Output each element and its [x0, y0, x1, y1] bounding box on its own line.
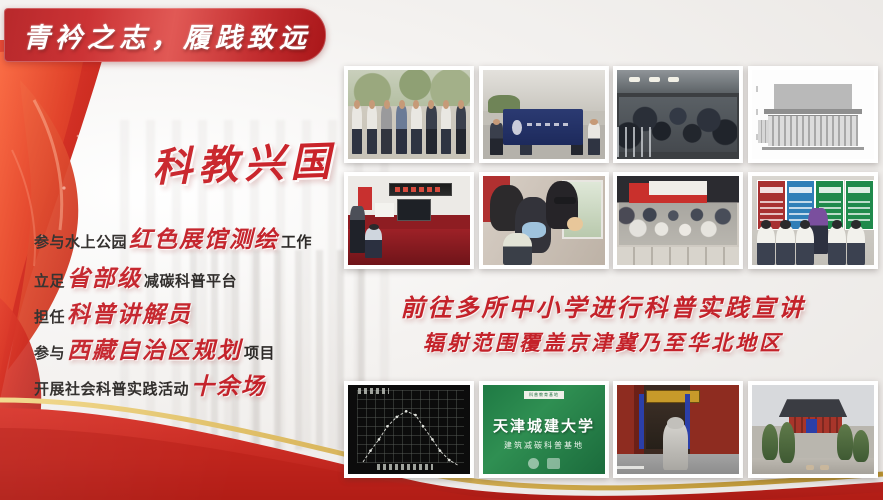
achievement-bullet-list: 参与水上公园红色展馆测绘工作 立足省部级减碳科普平台 担任科普讲解员 参与西藏自… [34, 228, 344, 411]
photo-auditorium-group [613, 172, 743, 269]
bullet-item-3: 担任科普讲解员 [34, 303, 344, 326]
bullet-item-1: 参与水上公园红色展馆测绘工作 [34, 228, 344, 251]
sign-logo-row [528, 458, 560, 469]
bullet-3-highlight: 科普讲解员 [67, 302, 192, 327]
center-caption-line-1: 前往多所中小学进行科普实践宣讲 [368, 288, 838, 323]
title-banner: 青衿之志，履践致远 [4, 8, 326, 62]
sign-wordmark-icon [547, 458, 560, 469]
people-row [352, 102, 467, 154]
bullet-1-post: 工作 [281, 235, 312, 251]
bullet-4-post: 项目 [244, 346, 275, 362]
cad-section-curve [348, 385, 470, 474]
photo-cad-drawing [344, 381, 474, 478]
sign-subtitle: 建筑减碳科普基地 [504, 440, 584, 451]
slide-root: 青衿之志，履践致远 科教兴国 参与水上公园红色展馆测绘工作 立足省部级减碳科普平… [0, 0, 883, 500]
bullet-item-4: 参与西藏自治区规划项目 [34, 339, 344, 362]
bullet-5-pre: 开展社会科普实践活动 [34, 382, 189, 398]
photo-green-sign: 科普教育基地 天津城建大学 建筑减碳科普基地 [479, 381, 609, 478]
bullet-item-2: 立足省部级减碳科普平台 [34, 267, 344, 290]
photo-blue-banner [479, 66, 609, 163]
blue-banner [503, 109, 584, 145]
bullet-3-pre: 担任 [34, 310, 65, 326]
photo-elevation-drawing [748, 66, 878, 163]
bullet-4-pre: 参与 [34, 346, 65, 362]
sign-title: 天津城建大学 [493, 415, 595, 436]
bullet-2-highlight: 省部级 [67, 266, 142, 291]
photo-group-outdoor [344, 66, 474, 163]
center-caption: 前往多所中小学进行科普实践宣讲 辐射范围覆盖京津冀乃至华北地区 [368, 288, 838, 357]
bullet-2-pre: 立足 [34, 274, 65, 290]
stone-lion [663, 422, 687, 470]
bullet-5-highlight: 十余场 [191, 374, 266, 399]
bullet-1-pre: 参与水上公园 [34, 235, 127, 251]
tree-backdrop [348, 70, 470, 106]
bullet-1-highlight: 红色展馆测绘 [129, 227, 279, 252]
sign-top-tag: 科普教育基地 [524, 391, 564, 399]
title-banner-text: 青衿之志，履践致远 [23, 16, 311, 55]
bullet-2-post: 减碳科普平台 [144, 274, 237, 290]
photo-green-panels [748, 172, 878, 269]
bullet-item-5: 开展社会科普实践活动十余场 [34, 375, 344, 398]
photo-temple-render [613, 381, 743, 478]
sign-emblem-icon [528, 458, 539, 469]
center-caption-line-2: 辐射范围覆盖京津冀乃至华北地区 [368, 327, 838, 357]
photo-model-render [748, 381, 878, 478]
bullet-4-highlight: 西藏自治区规划 [67, 338, 242, 363]
section-heading: 科教兴国 [151, 129, 337, 193]
photo-meeting-room [344, 172, 474, 269]
photo-closeup-children [479, 172, 609, 269]
photo-indoor-crowd [613, 66, 743, 163]
